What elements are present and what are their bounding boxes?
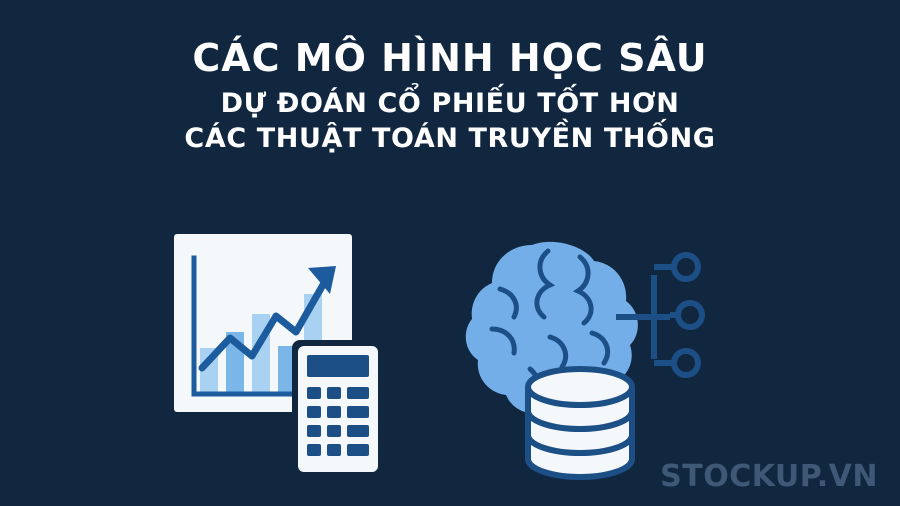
brain-circuit-database-illustration <box>440 205 760 495</box>
headline-line-3: CÁC THUẬT TOÁN TRUYỀN THỐNG <box>0 123 900 155</box>
chart-and-calculator-illustration <box>168 228 438 488</box>
headline-line-2: DỰ ĐOÁN CỔ PHIẾU TỐT HƠN <box>0 88 900 120</box>
headline-line-1: CÁC MÔ HÌNH HỌC SÂU <box>0 36 900 81</box>
page-title: CÁC MÔ HÌNH HỌC SÂU DỰ ĐOÁN CỔ PHIẾU TỐT… <box>0 36 900 155</box>
calculator-icon <box>292 340 384 478</box>
poster-canvas: CÁC MÔ HÌNH HỌC SÂU DỰ ĐOÁN CỔ PHIẾU TỐT… <box>0 0 900 506</box>
database-cylinder-icon <box>528 369 632 477</box>
watermark-text: STOCKUP.VN <box>660 459 878 494</box>
